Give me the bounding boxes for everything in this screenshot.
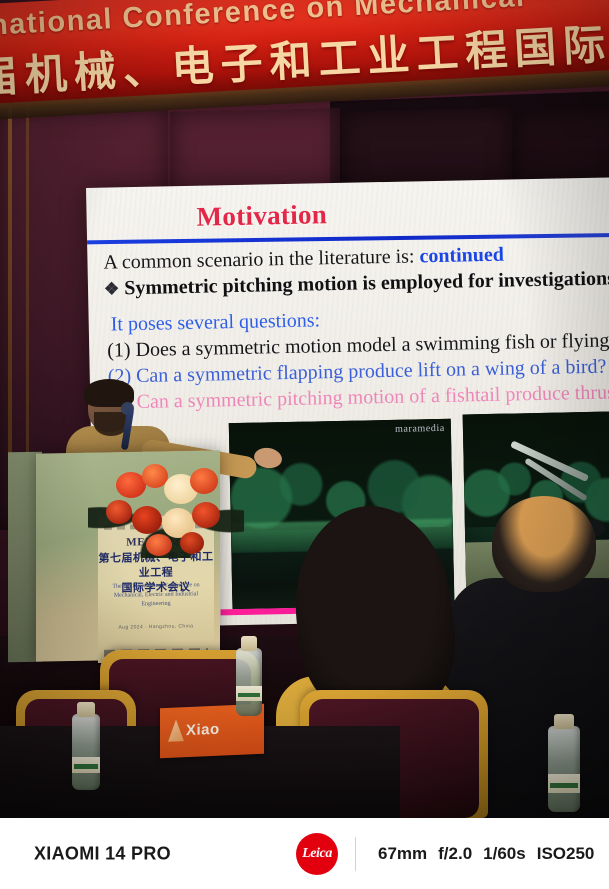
flower (192, 502, 220, 528)
product-box-logo-icon (168, 719, 184, 742)
focal-length-value: 67mm (378, 844, 427, 863)
water-bottle (72, 702, 100, 790)
audience-head (492, 496, 596, 592)
slide-questions-header: It poses several questions: (111, 309, 321, 336)
poster-english-subtitle: The 7th International Conference on Mech… (102, 581, 210, 610)
exif-divider (355, 837, 356, 871)
video-watermark: maramedia (395, 423, 445, 435)
iso-value: ISO250 (537, 844, 595, 863)
poster-date-venue: Aug 2024 · Hangzhou, China (98, 623, 214, 631)
flower (106, 500, 132, 524)
bottle-cap (241, 636, 258, 651)
shutter-speed-value: 1/60s (483, 844, 526, 863)
leica-logo-icon: Leica (296, 833, 338, 875)
product-box-label: Xiao (186, 721, 220, 739)
water-bottle (548, 714, 580, 812)
bottle-label (548, 774, 580, 793)
slide-title: Motivation (196, 199, 327, 233)
flower (180, 532, 204, 554)
photo-frame: rnational Conference on Mechanical 届机械、电… (0, 0, 609, 889)
bottle-cap (554, 714, 574, 729)
flower (132, 506, 162, 534)
bottle-label (72, 757, 100, 774)
exif-info-bar: XIAOMI 14 PRO Leica 67mmf/2.01/60sISO250 (0, 818, 609, 889)
bottle-body (548, 726, 580, 812)
leica-logo-text: Leica (302, 846, 332, 862)
audience-member-man (470, 496, 609, 818)
flower (190, 468, 218, 494)
aperture-value: f/2.0 (438, 844, 472, 863)
diamond-bullet-icon: ❖ (104, 279, 120, 298)
conference-photo: rnational Conference on Mechanical 届机械、电… (0, 0, 609, 818)
device-model-label: XIAOMI 14 PRO (34, 843, 171, 864)
water-bottle (236, 636, 262, 716)
slide-intro-emphasis: continued (419, 244, 504, 268)
bottle-body (236, 648, 262, 716)
bottle-cap (77, 702, 95, 717)
bottle-body (72, 714, 100, 790)
flower-arrangement (86, 452, 246, 568)
flower (146, 534, 172, 556)
bottle-label (236, 686, 262, 701)
exif-settings-group: 67mmf/2.01/60sISO250 (378, 844, 605, 864)
